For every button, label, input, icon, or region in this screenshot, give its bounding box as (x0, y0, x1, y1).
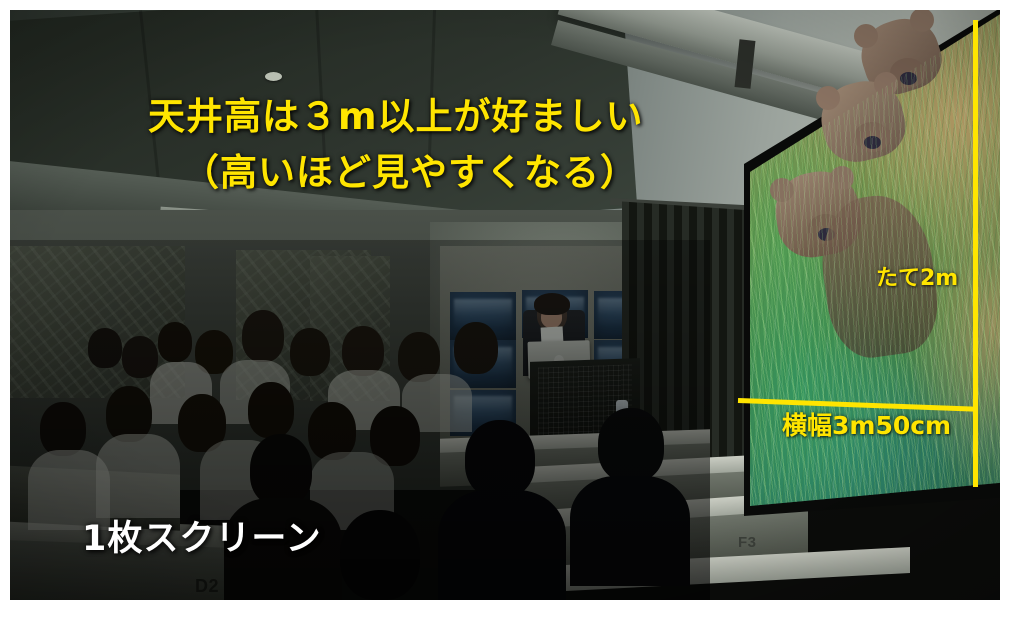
audience-head (242, 310, 284, 362)
audience-torso (96, 434, 180, 518)
slide-root: F3 D2 (0, 0, 1010, 618)
bear-nose-icon (900, 72, 917, 85)
bear-ear (816, 86, 840, 110)
audience-head-foreground (598, 408, 664, 482)
screen-type-caption: 1枚スクリーン (82, 510, 322, 561)
title-line-2: （高いほど見やすくなる） (182, 142, 638, 196)
audience-head (290, 328, 330, 376)
desk-label-d2: D2 (195, 576, 219, 597)
audience-head (248, 382, 294, 438)
audience-head (40, 402, 86, 456)
audience-head (158, 322, 192, 362)
bear-nose-icon (864, 136, 881, 149)
screen-width-annotation: 横幅3m50cm (782, 406, 951, 442)
audience-head-foreground (250, 434, 312, 506)
bear-ear (830, 166, 854, 190)
bear-ear (770, 178, 794, 202)
audience-head (122, 336, 158, 378)
smoke-detector-icon (265, 72, 282, 81)
bear-ear (854, 24, 878, 48)
bear-ear (874, 72, 898, 96)
audience-head-foreground (340, 510, 420, 600)
audience-head (454, 322, 498, 374)
screen-height-annotation: たて2m (876, 260, 958, 292)
audience-head-foreground (465, 420, 535, 498)
audience-head (342, 326, 384, 376)
screen-height-measure-line (973, 20, 978, 487)
audience-head (88, 328, 122, 368)
presenter-hair (534, 293, 570, 315)
audience-torso-foreground (570, 476, 690, 586)
audience-torso-foreground (438, 490, 566, 600)
photograph: F3 D2 (10, 10, 1000, 600)
title-line-1: 天井高は３m以上が好ましい (148, 86, 644, 140)
